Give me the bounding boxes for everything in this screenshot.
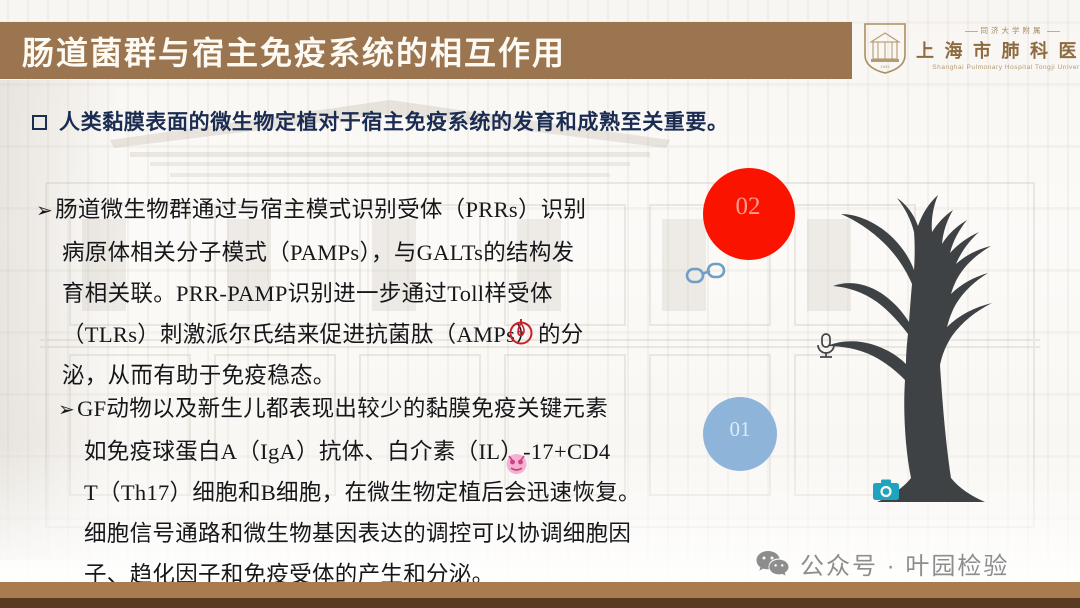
badge-02-label: 02 [736, 193, 761, 221]
hollow-square-bullet-icon [32, 115, 47, 130]
badge-01: 01 [703, 397, 777, 471]
paragraph-1-line-1: ➢肠道微生物群通过与宿主模式识别受体（PRRs）识别 [36, 189, 726, 232]
chain-link-icon [684, 259, 728, 289]
paragraph-1-text-1: 肠道微生物群通过与宿主模式识别受体（PRRs）识别 [55, 197, 586, 222]
paragraph-2-line-1: ➢GF动物以及新生儿都表现出较少的黏膜免疫关键元素 [58, 388, 758, 431]
footer-bar-dark [0, 598, 1080, 608]
lead-bullet-text: 人类黏膜表面的微生物定植对于宿主免疫系统的发育和成熟至关重要。 [59, 106, 729, 136]
body-paragraph-1: ➢肠道微生物群通过与宿主模式识别受体（PRRs）识别 病原体相关分子模式（PAM… [36, 189, 726, 396]
paragraph-2-text-1: GF动物以及新生儿都表现出较少的黏膜免疫关键元素 [77, 396, 608, 421]
paragraph-2-line-3: T（Th17）细胞和B细胞，在微生物定植后会迅速恢复。 [58, 472, 758, 513]
paragraph-1-line-4: （TLRs）刺激派尔氏结来促进抗菌肽（AMPs）的分 [36, 314, 726, 355]
logo-hospital-name: 上 海 市 肺 科 医 院 [916, 37, 1080, 63]
body-paragraph-2: ➢GF动物以及新生儿都表现出较少的黏膜免疫关键元素 如免疫球蛋白A（IgA）抗体… [58, 388, 758, 595]
title-banner: 肠道菌群与宿主免疫系统的相互作用 [0, 22, 852, 79]
shield-emblem-icon: 1933 [862, 21, 908, 75]
logo-affiliation: 同济大学附属 [965, 25, 1060, 36]
logo-text-block: 同济大学附属 上 海 市 肺 科 医 院 Shanghai Pulmonary … [916, 25, 1080, 71]
wechat-watermark-text: 公众号 · 叶园检验 [800, 546, 1009, 581]
paragraph-2-line-2: 如免疫球蛋白A（IgA）抗体、白介素（IL）-17+CD4 [58, 431, 758, 472]
page-title: 肠道菌群与宿主免疫系统的相互作用 [22, 28, 566, 74]
camera-icon [872, 478, 900, 502]
footer-bar-light [0, 582, 1080, 598]
badge-02: 02 [703, 168, 795, 260]
paragraph-1-line-2: 病原体相关分子模式（PAMPs），与GALTs的结构发 [36, 232, 726, 273]
lead-bullet-line: 人类黏膜表面的微生物定植对于宿主免疫系统的发育和成熟至关重要。 [32, 106, 729, 136]
badge-01-label: 01 [730, 417, 751, 442]
pink-bubble-icon [504, 451, 529, 476]
microphone-icon [815, 332, 837, 360]
stopwatch-icon [508, 317, 534, 345]
paragraph-1-line-3: 育相关联。PRR-PAMP识别进一步通过Toll样受体 [36, 273, 726, 314]
arrow-bullet-icon-2: ➢ [58, 399, 75, 421]
hospital-logo: 1933 同济大学附属 上 海 市 肺 科 医 院 Shanghai Pulmo… [862, 17, 1074, 79]
wechat-logo-icon [756, 549, 789, 578]
paragraph-2-line-4: 细胞信号通路和微生物基因表达的调控可以协调细胞因 [58, 513, 758, 554]
slide-canvas: 肠道菌群与宿主免疫系统的相互作用 1933 同济大学附属 上 海 市 肺 科 医… [0, 0, 1080, 608]
svg-text:1933: 1933 [881, 64, 891, 69]
logo-hospital-name-en: Shanghai Pulmonary Hospital Tongji Unive… [932, 64, 1080, 71]
wechat-watermark: 公众号 · 叶园检验 [756, 546, 1009, 581]
arrow-bullet-icon: ➢ [36, 200, 53, 222]
